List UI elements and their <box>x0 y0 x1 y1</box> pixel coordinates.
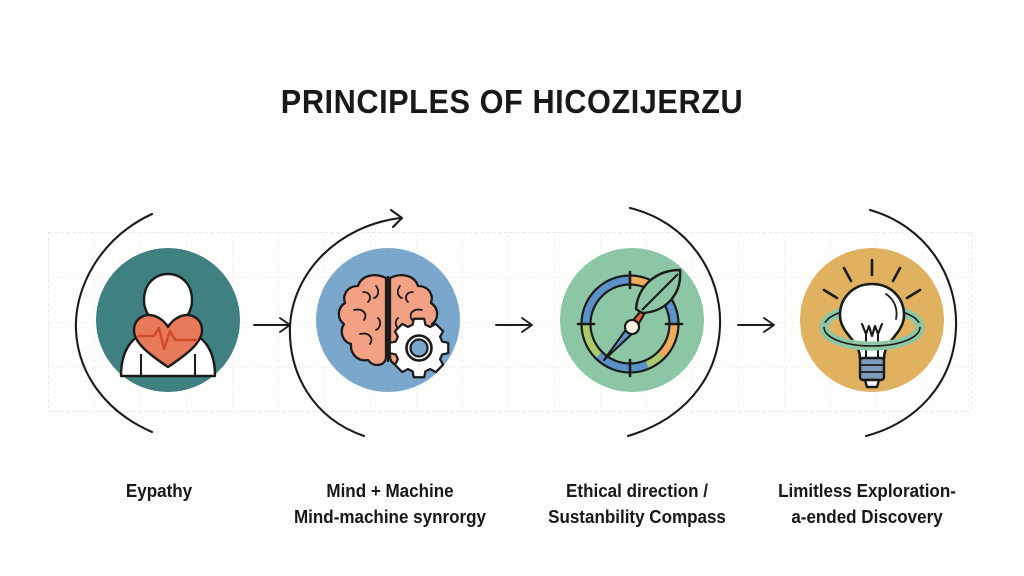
flow-step-1[interactable] <box>58 210 278 440</box>
flow-step-3[interactable] <box>522 210 742 440</box>
lightbulb-with-orbit-icon <box>800 248 944 392</box>
flow-step-2[interactable] <box>278 210 498 440</box>
brain-with-gear-icon <box>316 248 460 392</box>
caption-step-3-line-1: Ethical direction / <box>522 478 752 504</box>
compass-with-leaf-icon <box>560 248 704 392</box>
person-with-heart-icon <box>96 248 240 392</box>
slide-canvas: PRINCIPLES OF HICOZIJERZU <box>0 0 1024 576</box>
page-title: PRINCIPLES OF HICOZIJERZU <box>36 83 988 121</box>
caption-step-2: Mind + Machine Mind-machine synrorgy <box>275 478 505 530</box>
caption-step-3: Ethical direction / Sustanbility Compass <box>522 478 752 530</box>
caption-step-2-line-2: Mind-machine synrorgy <box>275 504 505 530</box>
caption-step-4-line-1: Limitless Exploration- <box>752 478 982 504</box>
caption-step-1: Eypathy <box>44 478 274 504</box>
caption-step-4-line-2: a-ended Discovery <box>752 504 982 530</box>
caption-step-4: Limitless Exploration- a-ended Discovery <box>752 478 982 530</box>
caption-step-2-line-1: Mind + Machine <box>275 478 505 504</box>
caption-step-1-line-1: Eypathy <box>44 478 274 504</box>
flow-step-4[interactable] <box>762 210 982 440</box>
principles-flow <box>0 210 1024 440</box>
caption-row: Eypathy Mind + Machine Mind-machine synr… <box>0 478 1024 558</box>
caption-step-3-line-2: Sustanbility Compass <box>522 504 752 530</box>
